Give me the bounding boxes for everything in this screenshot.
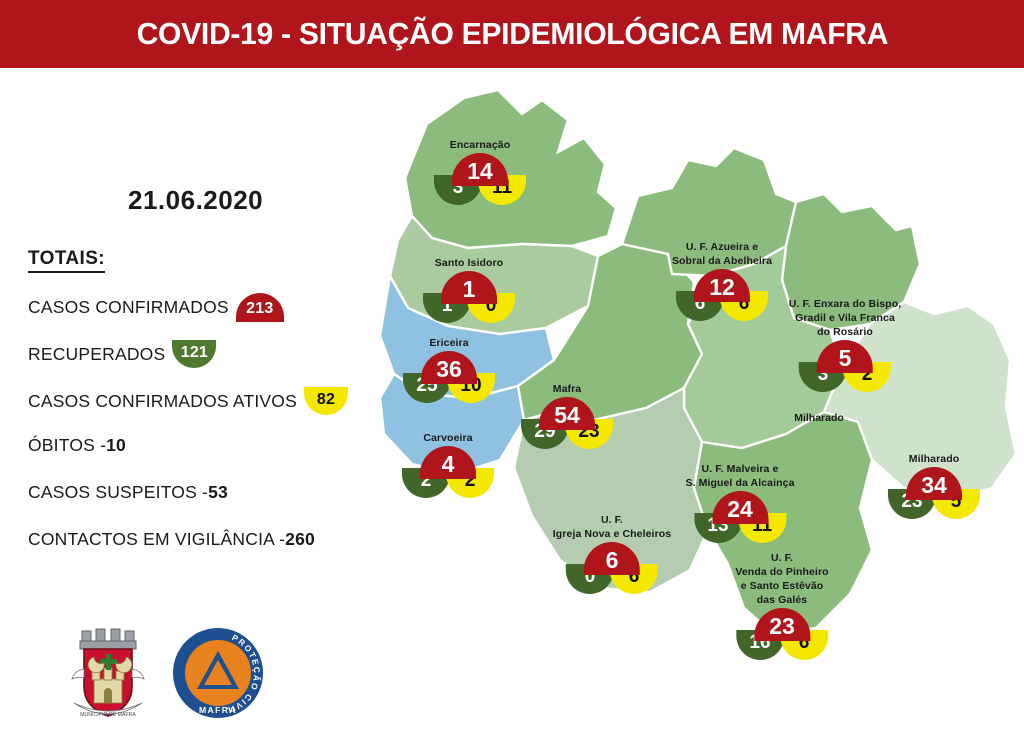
totals-heading: TOTAIS: — [28, 248, 105, 273]
stats-panel: 21.06.2020 TOTAIS: CASOS CONFIRMADOS 213… — [0, 68, 372, 724]
infographic-root: COVID-19 - SITUAÇÃO EPIDEMIOLÓGICA EM MA… — [0, 0, 1024, 724]
stat-label: CASOS CONFIRMADOS — [28, 297, 229, 318]
marker-label-line1: U. F. Enxara do Bispo, — [789, 298, 901, 310]
marker-graphic: 3 2 5 — [799, 340, 891, 392]
stat-value: 53 — [208, 482, 228, 503]
marker-label-line2: S. Miguel da Alcainça — [685, 477, 794, 489]
protecao-civil-mafra-icon: PROTEÇÃO CIVIL MAFRA — [172, 627, 264, 719]
marker-label-line4: das Galés — [735, 594, 828, 606]
logo-strip: MUNICÍPIO DE MAFRA PROTEÇÃO CIVIL MAFRA — [62, 621, 282, 731]
marker-graphic: 0 6 6 — [566, 542, 658, 594]
marker-label: Ericeira — [403, 337, 495, 349]
stat-label: ÓBITOS - — [28, 435, 106, 456]
marker-uf-azueira-sobral-abelheira[interactable]: U. F. Azueira e Sobral da Abelheira 6 6 … — [672, 241, 772, 321]
marker-uf-venda-pinheiro-santo-estevao-gales[interactable]: U. F. Venda do Pinheiro e Santo Estêvão … — [735, 552, 828, 660]
marker-carvoeira[interactable]: Carvoeira 2 2 4 — [402, 432, 494, 498]
marker-label: Carvoeira — [402, 432, 494, 444]
marker-uf-malveira-s-miguel-alcainca[interactable]: U. F. Malveira e S. Miguel da Alcainça 1… — [685, 463, 794, 543]
marker-label: Encarnação — [434, 139, 526, 151]
marker-graphic: 6 6 12 — [676, 269, 768, 321]
marker-confirmed-value: 34 — [906, 467, 962, 500]
stat-casos-confirmados: CASOS CONFIRMADOS 213 — [28, 293, 284, 322]
badge-recuperados: 121 — [172, 340, 216, 368]
marker-graphic: 16 6 23 — [736, 608, 828, 660]
stat-label: RECUPERADOS — [28, 344, 165, 365]
stat-label: CONTACTOS EM VIGILÂNCIA - — [28, 529, 285, 550]
marker-graphic: 23 5 34 — [888, 467, 980, 519]
marker-uf-igreja-nova-cheleiros[interactable]: U. F. Igreja Nova e Cheleiros 0 6 6 — [553, 514, 671, 594]
marker-confirmed-value: 12 — [694, 269, 750, 302]
marker-label-line3: e Santo Estêvão — [735, 580, 828, 592]
marker-graphic: 25 10 36 — [403, 351, 495, 403]
marker-label: Milharado — [888, 453, 980, 465]
marker-confirmed-value: 6 — [584, 542, 640, 575]
marker-confirmed-value: 54 — [539, 397, 595, 430]
marker-confirmed-value: 36 — [421, 351, 477, 384]
marker-confirmed-value: 5 — [817, 340, 873, 373]
marker-santo-isidoro[interactable]: Santo Isidoro 1 0 1 — [423, 257, 515, 323]
stat-casos-suspeitos: CASOS SUSPEITOS - 53 — [28, 482, 228, 503]
marker-milharado[interactable]: Milharado 23 5 34 — [888, 453, 980, 519]
stat-label: CASOS SUSPEITOS - — [28, 482, 208, 503]
stat-value: 10 — [106, 435, 126, 456]
marker-label-line2: Sobral da Abelheira — [672, 255, 772, 267]
brasao-municipio-mafra-icon: MUNICÍPIO DE MAFRA — [62, 621, 158, 725]
marker-ericeira[interactable]: Ericeira 25 10 36 — [403, 337, 495, 403]
marker-graphic: 13 11 24 — [694, 491, 786, 543]
marker-label: Mafra — [521, 383, 613, 395]
marker-confirmed-value: 4 — [420, 446, 476, 479]
marker-label-line2: Venda do Pinheiro — [735, 566, 828, 578]
marker-label-line1: U. F. — [735, 552, 828, 564]
page-header: COVID-19 - SITUAÇÃO EPIDEMIOLÓGICA EM MA… — [0, 0, 1024, 68]
marker-label-line2: Gradil e Vila Franca — [789, 312, 901, 324]
stat-casos-ativos: CASOS CONFIRMADOS ATIVOS 82 — [28, 387, 348, 415]
marker-label-line3: do Rosário — [789, 326, 901, 338]
marker-confirmed-value: 14 — [452, 153, 508, 186]
marker-label: Santo Isidoro — [423, 257, 515, 269]
marker-graphic: 2 2 4 — [402, 446, 494, 498]
mafra-municipality-map: Milharado Encarnação 3 11 14 Santo Isido… — [372, 68, 1024, 724]
marker-label-line1: U. F. Malveira e — [685, 463, 794, 475]
badge-casos-ativos: 82 — [304, 387, 348, 415]
marker-uf-enxara-gradil-vila-franca[interactable]: U. F. Enxara do Bispo, Gradil e Vila Fra… — [789, 298, 901, 392]
marker-label-line1: U. F. — [553, 514, 671, 526]
marker-graphic: 1 0 1 — [423, 271, 515, 323]
brasao-caption: MUNICÍPIO DE MAFRA — [80, 711, 136, 718]
marker-confirmed-value: 24 — [712, 491, 768, 524]
stat-value: 260 — [285, 529, 315, 550]
marker-graphic: 29 23 54 — [521, 397, 613, 449]
protecao-civil-caption-bottom: MAFRA — [199, 705, 237, 715]
marker-encarnacao[interactable]: Encarnação 3 11 14 — [434, 139, 526, 205]
page-title: COVID-19 - SITUAÇÃO EPIDEMIOLÓGICA EM MA… — [136, 16, 888, 52]
marker-confirmed-value: 1 — [441, 271, 497, 304]
report-date: 21.06.2020 — [128, 185, 263, 216]
marker-label-line2: Igreja Nova e Cheleiros — [553, 528, 671, 540]
stat-recuperados: RECUPERADOS 121 — [28, 340, 216, 368]
map-label-milharado-region: Milharado — [794, 412, 844, 424]
marker-graphic: 3 11 14 — [434, 153, 526, 205]
marker-label-line1: U. F. Azueira e — [672, 241, 772, 253]
badge-casos-confirmados: 213 — [236, 293, 284, 322]
marker-mafra[interactable]: Mafra 29 23 54 — [521, 383, 613, 449]
marker-confirmed-value: 23 — [754, 608, 810, 641]
stat-contactos-vigilancia: CONTACTOS EM VIGILÂNCIA - 260 — [28, 529, 315, 550]
stat-obitos: ÓBITOS - 10 — [28, 435, 126, 456]
stat-label: CASOS CONFIRMADOS ATIVOS — [28, 391, 297, 412]
